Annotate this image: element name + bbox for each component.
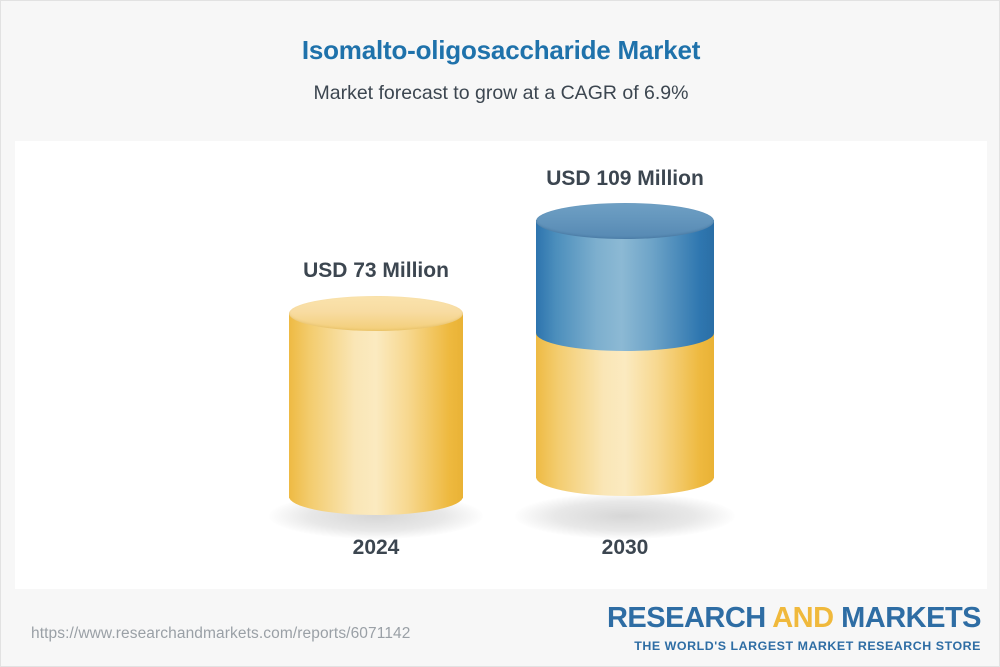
bar-2030-value-label: USD 109 Million [536, 168, 714, 189]
bar-2024-top-ellipse [289, 296, 463, 331]
logo-word-markets: MARKETS [841, 602, 981, 634]
category-label-2030: 2030 [536, 537, 714, 558]
logo-tagline: THE WORLD'S LARGEST MARKET RESEARCH STOR… [607, 633, 981, 652]
source-url[interactable]: https://www.researchandmarkets.com/repor… [31, 625, 410, 643]
chart-subtitle: Market forecast to grow at a CAGR of 6.9… [1, 66, 1000, 105]
bar-2030[interactable] [536, 203, 714, 515]
bar-2030-top-ellipse [536, 203, 714, 239]
logo-wordmark: RESEARCH AND MARKETS [607, 604, 981, 633]
chart-header: Isomalto-oligosaccharide Market Market f… [1, 35, 1000, 106]
chart-title: Isomalto-oligosaccharide Market [1, 35, 1000, 66]
chart-plot-area: USD 73 Million USD 109 Million 2024 2030 [15, 141, 987, 589]
bar-2024[interactable] [289, 296, 463, 515]
infographic-canvas: Isomalto-oligosaccharide Market Market f… [0, 0, 1000, 667]
bar-2024-value-label: USD 73 Million [289, 260, 463, 281]
logo-word-and: AND [772, 602, 841, 634]
logo-word-research: RESEARCH [607, 602, 772, 634]
research-and-markets-logo[interactable]: RESEARCH AND MARKETS THE WORLD'S LARGEST… [607, 604, 981, 652]
bar-2024-body [289, 313, 463, 498]
category-label-2024: 2024 [289, 537, 463, 558]
